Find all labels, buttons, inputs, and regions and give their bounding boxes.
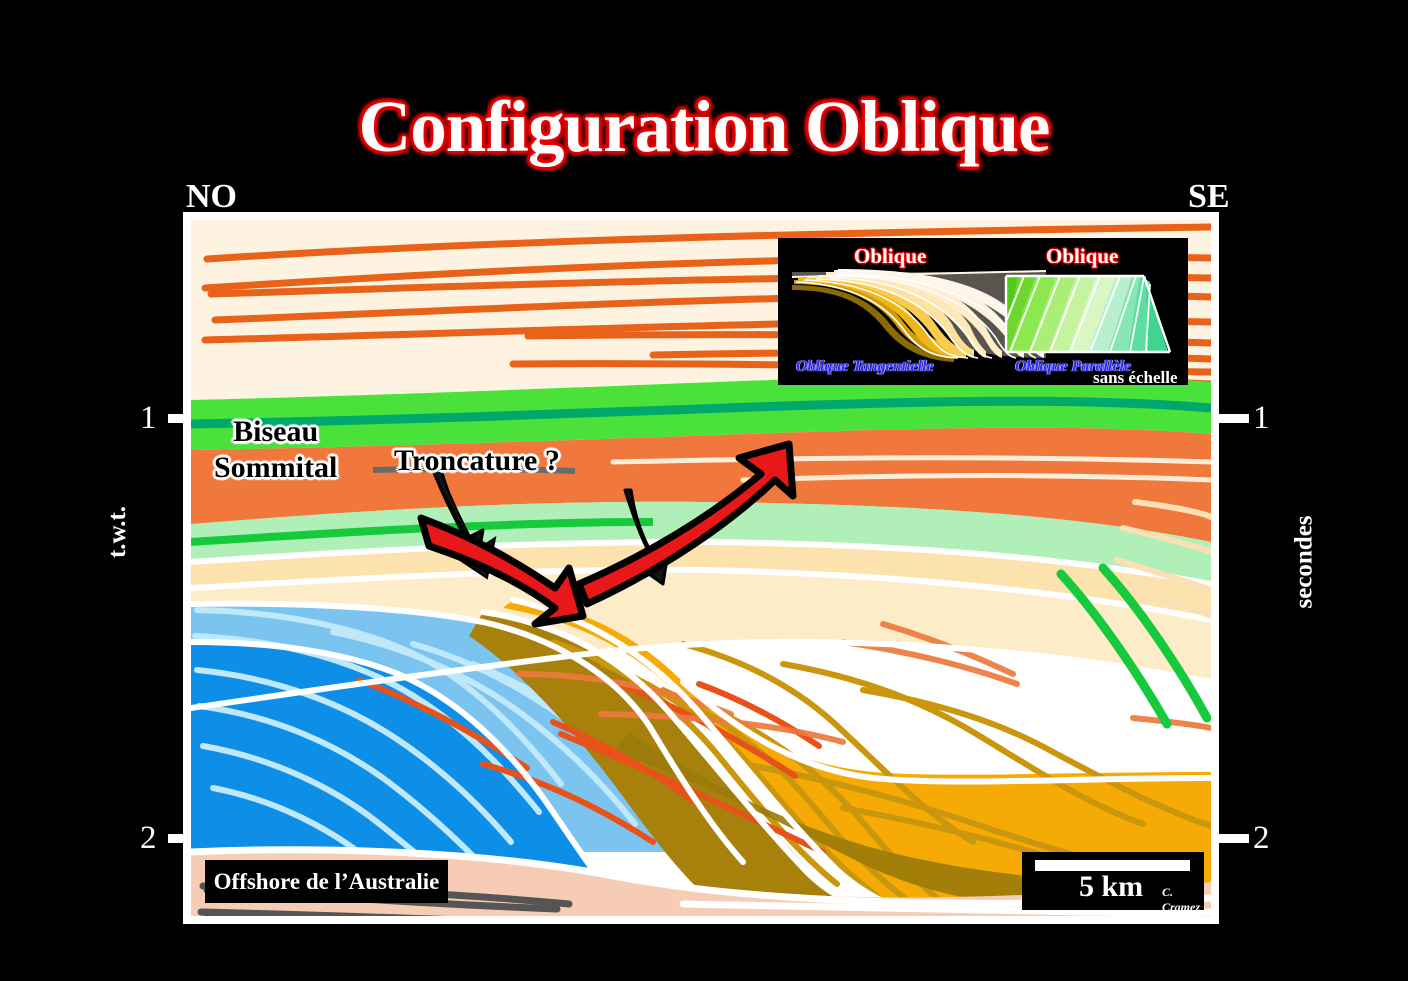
inset-title-right: Oblique <box>1046 244 1118 269</box>
page-title: Configuration Oblique <box>0 85 1408 169</box>
axis-label-twt: t.w.t. <box>104 506 132 558</box>
inset-parallel-diagram <box>1006 276 1170 352</box>
scale-bar-box: 5 km C. Cramez <box>1022 852 1204 910</box>
credit-label: C. Cramez <box>1162 885 1204 915</box>
axis-label-secondes: secondes <box>1291 515 1319 608</box>
arrow-red-left <box>421 518 583 624</box>
caption-location-text: Offshore de l’Australie <box>214 869 440 895</box>
tick-label-left-2: 2 <box>140 820 157 857</box>
tick-mark-right-1 <box>1219 414 1249 423</box>
tick-label-right-2: 2 <box>1253 820 1270 857</box>
inset-panel: Oblique Oblique Oblique Tangentielle Obl… <box>778 238 1188 385</box>
annotation-biseau-line2: Sommital <box>214 450 337 486</box>
tick-label-left-1: 1 <box>140 400 157 437</box>
inset-no-scale-label: sans échelle <box>1093 368 1178 388</box>
direction-label-nw: NO <box>186 178 237 216</box>
inset-title-left: Oblique <box>854 244 926 269</box>
tick-mark-right-2 <box>1219 834 1249 843</box>
tick-label-right-1: 1 <box>1253 400 1270 437</box>
slide-canvas: Configuration Oblique NO SE t.w.t. secon… <box>0 0 1408 981</box>
caption-location-box: Offshore de l’Australie <box>205 860 448 903</box>
annotation-biseau-line1: Biseau <box>214 414 337 450</box>
arrow-red-right <box>579 444 793 604</box>
direction-label-se: SE <box>1188 178 1230 216</box>
annotation-biseau-sommital: Biseau Sommital <box>214 414 337 486</box>
scale-bar-label: 5 km <box>1079 870 1143 904</box>
annotation-troncature: Troncature ? <box>394 444 560 478</box>
inset-subtitle-left: Oblique Tangentielle <box>796 358 934 376</box>
